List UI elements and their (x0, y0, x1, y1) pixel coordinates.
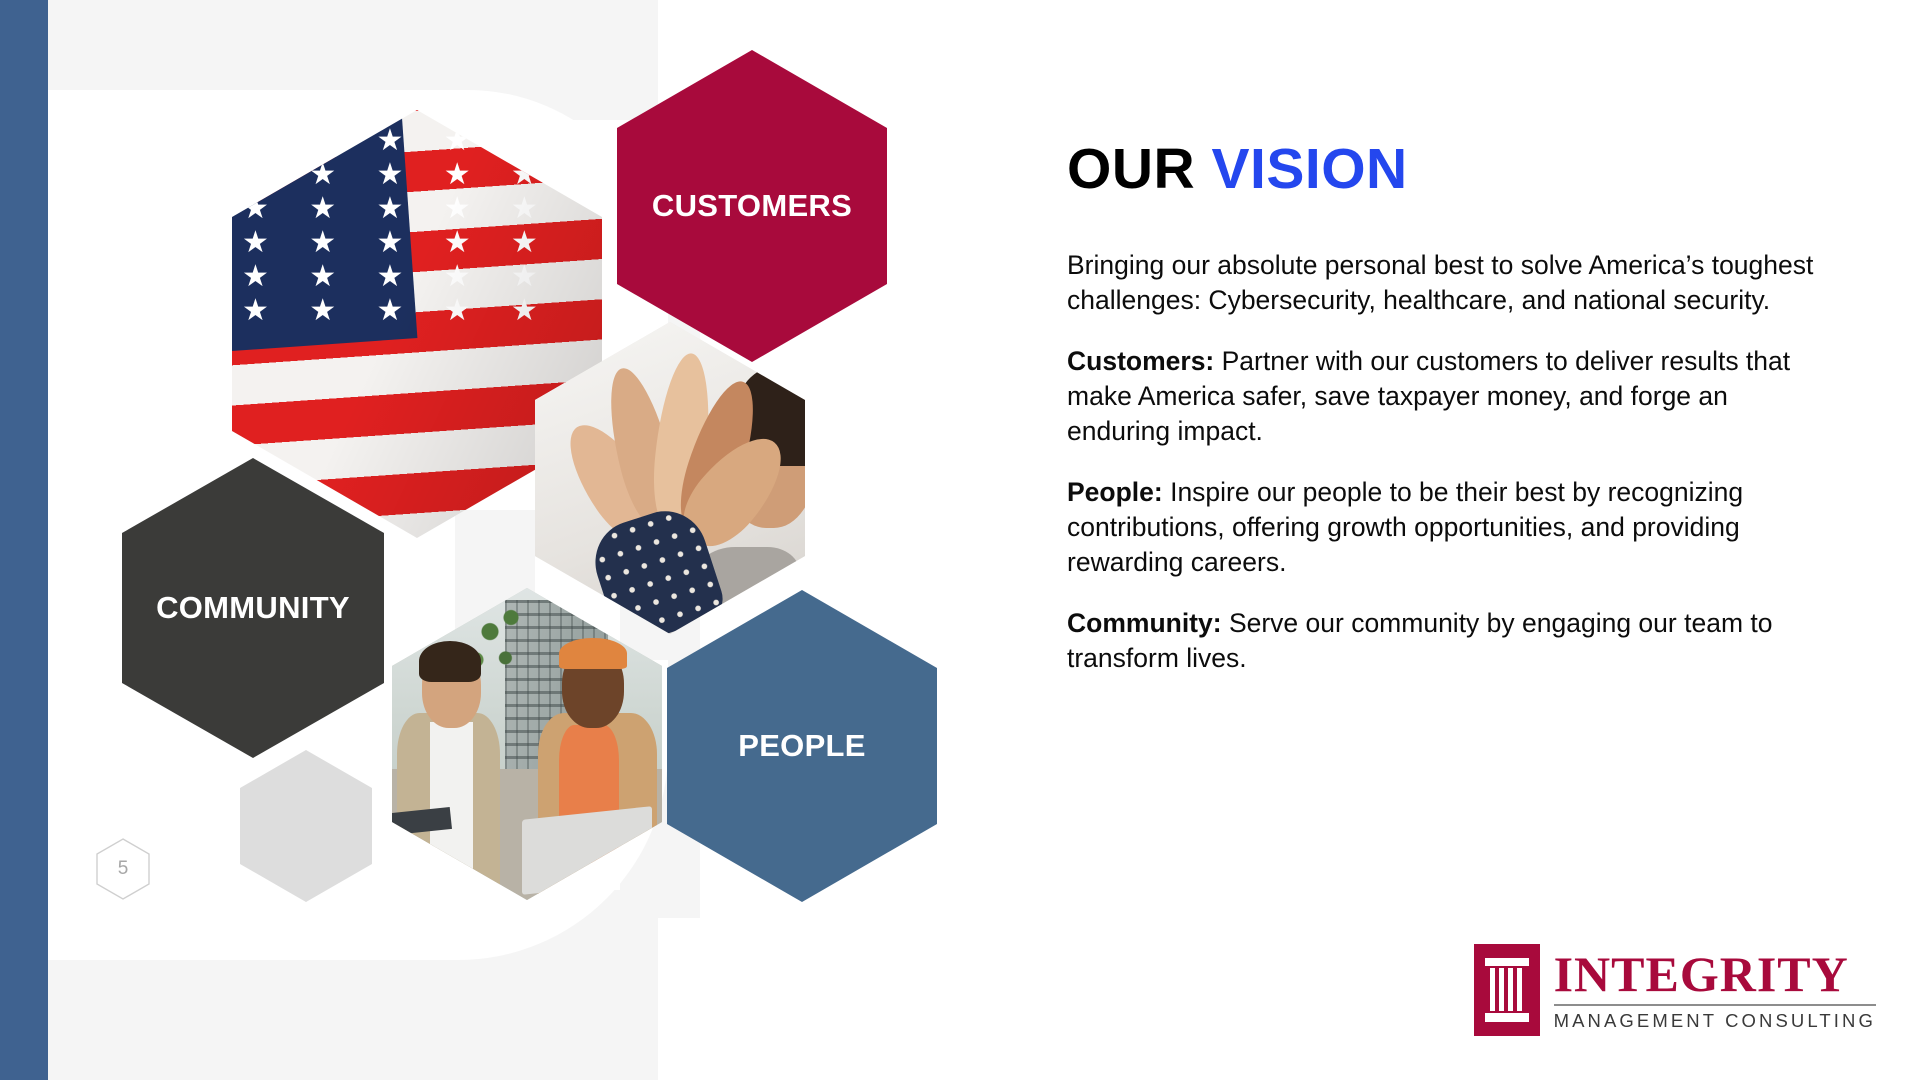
title-part-vision: VISION (1212, 137, 1408, 201)
slide-number: 5 (118, 858, 129, 880)
column-icon (1474, 944, 1540, 1036)
hexagon-people[interactable]: PEOPLE (667, 590, 937, 902)
slide-canvas: ★ ★ ★ ★ ★ ★ ★ ★ ★ ★ ★ ★ ★ ★ ★ ★ ★ ★ ★ ★ … (0, 0, 1920, 1080)
logo-company-name: INTEGRITY (1554, 949, 1876, 999)
man-hair (419, 641, 481, 682)
logo-tagline: MANAGEMENT CONSULTING (1554, 1010, 1876, 1032)
content-column: OUR VISION Bringing our absolute persona… (1067, 140, 1827, 702)
paragraph-people-text: Inspire our people to be their best by r… (1067, 477, 1743, 577)
paragraph-people-lead: People: (1067, 477, 1163, 507)
paragraph-customers: Customers: Partner with our customers to… (1067, 344, 1827, 449)
left-accent-bar (0, 0, 48, 1080)
column-shaft (1490, 968, 1524, 1011)
intro-paragraph: Bringing our absolute personal best to s… (1067, 248, 1827, 318)
woman-headband (559, 638, 627, 669)
column-capital (1485, 958, 1529, 966)
hexagon-people-label: PEOPLE (738, 728, 866, 764)
logo-divider (1554, 1004, 1876, 1006)
paragraph-people: People: Inspire our people to be their b… (1067, 475, 1827, 580)
hexagon-customers-label: CUSTOMERS (652, 188, 852, 224)
hexagon-community-label: COMMUNITY (156, 590, 350, 626)
logo-text-block: INTEGRITY MANAGEMENT CONSULTING (1554, 944, 1876, 1036)
slide-number-badge: 5 (96, 838, 150, 900)
paragraph-community: Community: Serve our community by engagi… (1067, 606, 1827, 676)
paragraph-community-lead: Community: (1067, 608, 1222, 638)
page-title: OUR VISION (1067, 140, 1827, 200)
paragraph-customers-lead: Customers: (1067, 346, 1214, 376)
column-base (1485, 1013, 1529, 1022)
title-part-our: OUR (1067, 137, 1195, 201)
company-logo: INTEGRITY MANAGEMENT CONSULTING (1474, 944, 1876, 1036)
